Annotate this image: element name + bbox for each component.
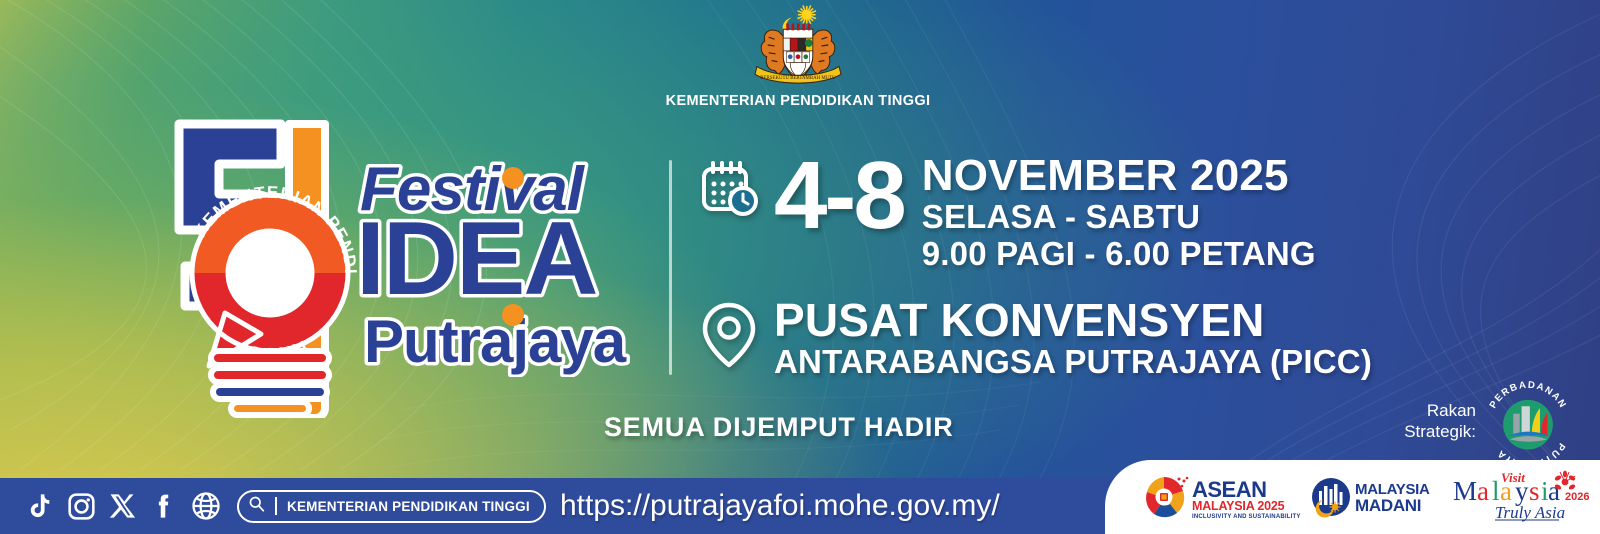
strategic-partner-label: Rakan Strategik:: [1392, 400, 1476, 443]
venue-row: PUSAT KONVENSYEN ANTARABANGSA PUTRAJAYA …: [700, 297, 1440, 381]
event-hours: 9.00 PAGI - 6.00 PETANG: [922, 236, 1316, 273]
malaysia-coat-of-arms-icon: BERSEKUTU BERTAMBAH MUTU: [739, 2, 857, 88]
svg-text:Truly Asia: Truly Asia: [1495, 503, 1565, 522]
tiktok-icon[interactable]: [25, 492, 54, 521]
perbadanan-putrajaya-logo: PERBADANAN PUTRAJAYA: [1482, 371, 1574, 471]
globe-website-icon[interactable]: [191, 491, 221, 521]
vertical-divider: [669, 160, 672, 375]
svg-text:s: s: [1529, 476, 1540, 506]
svg-text:MADANI: MADANI: [1355, 496, 1421, 515]
kpt-handle-pill[interactable]: KEMENTERIAN PENDIDIKAN TINGGI: [237, 490, 546, 523]
venue-line-1: PUSAT KONVENSYEN: [774, 297, 1372, 343]
svg-text:M: M: [1453, 476, 1477, 506]
pill-divider: [275, 497, 277, 515]
venue-text-block: PUSAT KONVENSYEN ANTARABANGSA PUTRAJAYA …: [774, 297, 1372, 381]
date-row: 4-8 NOVEMBER 2025 SELASA - SABTU 9.00 PA…: [700, 150, 1440, 273]
ministry-name-label: KEMENTERIAN PENDIDIKAN TINGGI: [643, 93, 953, 109]
visit-malaysia-2026-logo: M a l a y s i a Visit 2026 Truly Asia: [1449, 470, 1595, 524]
svg-text:2026: 2026: [1565, 491, 1589, 503]
search-icon: [248, 495, 265, 517]
bottom-bar: KEMENTERIAN PENDIDIKAN TINGGI https://pu…: [0, 478, 1600, 534]
svg-text:l: l: [1492, 476, 1500, 506]
invitation-text: SEMUA DIJEMPUT HADIR: [604, 412, 954, 443]
kpt-handle-text: KEMENTERIAN PENDIDIKAN TINGGI: [287, 499, 530, 514]
svg-text:Visit: Visit: [1501, 470, 1525, 485]
wordmark-line-putrajaya: Putrajaya: [364, 308, 627, 375]
svg-text:MALAYSIA 2025: MALAYSIA 2025: [1192, 499, 1285, 513]
svg-text:INCLUSIVITY AND SUSTAINABILITY: INCLUSIVITY AND SUSTAINABILITY: [1192, 514, 1301, 520]
date-text-block: NOVEMBER 2025 SELASA - SABTU 9.00 PAGI -…: [922, 150, 1316, 273]
svg-text:BERSEKUTU BERTAMBAH MUTU: BERSEKUTU BERTAMBAH MUTU: [760, 76, 836, 81]
event-weekdays: SELASA - SABTU: [922, 199, 1316, 236]
dot-accent-i-festival: [502, 167, 524, 189]
partner-logo-panel: ASEAN MALAYSIA 2025 INCLUSIVITY AND SUST…: [1105, 460, 1600, 534]
asean-malaysia-2025-logo: ASEAN MALAYSIA 2025 INCLUSIVITY AND SUST…: [1139, 470, 1309, 524]
festival-wordmark: Festival IDEA Putrajaya: [356, 152, 656, 377]
location-pin-icon: [700, 299, 758, 376]
calendar-clock-icon: [700, 160, 758, 223]
instagram-icon[interactable]: [67, 492, 96, 521]
svg-text:a: a: [1477, 476, 1489, 506]
x-twitter-icon[interactable]: [109, 492, 137, 520]
social-links: [25, 491, 221, 521]
strategic-partner-block: Rakan Strategik: PERBADANAN: [1392, 371, 1574, 471]
venue-line-2: ANTARABANGSA PUTRAJAYA (PICC): [774, 343, 1372, 381]
wordmark-line-idea: IDEA: [356, 201, 596, 317]
partner-label-line-2: Strategik:: [1392, 421, 1476, 442]
dot-accent-j-putrajaya: [502, 304, 524, 326]
facebook-icon[interactable]: [150, 492, 178, 520]
malaysia-madani-logo: MALAYSIA MADANI: [1309, 473, 1449, 521]
event-month-year: NOVEMBER 2025: [922, 154, 1316, 199]
festival-idea-bulb-logo: KEMENTERIAN PENDIDIKAN TINGGI: [165, 108, 375, 418]
event-banner: BERSEKUTU BERTAMBAH MUTU KEMENTERIAN PEN…: [0, 0, 1600, 534]
event-days: 4-8: [774, 150, 904, 241]
svg-text:a: a: [1548, 476, 1560, 506]
ministry-crest-block: BERSEKUTU BERTAMBAH MUTU KEMENTERIAN PEN…: [643, 2, 953, 109]
event-details: 4-8 NOVEMBER 2025 SELASA - SABTU 9.00 PA…: [700, 150, 1440, 381]
partner-label-line-1: Rakan: [1392, 400, 1476, 421]
event-website-url[interactable]: https://putrajayafoi.mohe.gov.my/: [560, 489, 1000, 523]
